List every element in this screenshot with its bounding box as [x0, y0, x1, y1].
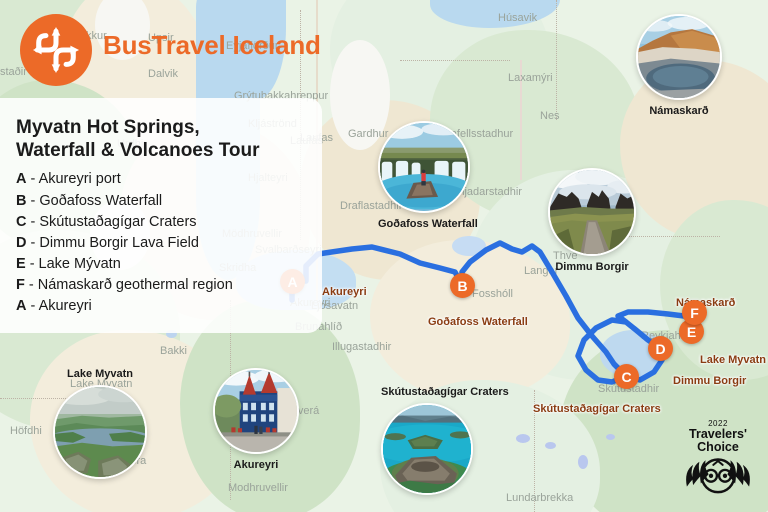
- photo-lakemyvatn-image: [53, 385, 147, 479]
- title-line-1: Myvatn Hot Springs,: [16, 117, 200, 138]
- itinerary-list: A - Akureyri portB - Goðafoss WaterfallC…: [16, 169, 308, 317]
- itinerary-item: A - Akureyri port: [16, 169, 308, 190]
- photo-lakemyvatn: Lake Myvatn: [53, 368, 147, 479]
- itinerary-label: - Goðafoss Waterfall: [26, 193, 162, 209]
- itinerary-letter: A: [16, 298, 26, 314]
- map-marker-c[interactable]: C: [614, 364, 639, 389]
- photo-namaskard-image: [636, 14, 722, 100]
- itinerary-letter: B: [16, 193, 26, 209]
- photo-dimmuborgir-image: [548, 168, 636, 256]
- photo-akureyri: Akureyri: [213, 368, 299, 471]
- photo-caption: Dimmu Borgir: [548, 261, 636, 273]
- page-title: Myvatn Hot Springs, Waterfall & Volcanoe…: [16, 116, 308, 162]
- tripadvisor-owl-icon: [679, 454, 757, 496]
- tour-map-poster: staðirkkurUpsirDalvikGrýtubakkahreppurEy…: [0, 0, 768, 512]
- photo-craters-image: [381, 403, 473, 495]
- four-way-arrows-icon: [20, 14, 92, 86]
- itinerary-label: - Akureyri: [26, 298, 91, 314]
- itinerary-letter: C: [16, 214, 26, 230]
- photo-caption: Námaskarð: [636, 105, 722, 117]
- photo-caption: Lake Myvatn: [53, 368, 147, 380]
- map-marker-d[interactable]: D: [648, 336, 673, 361]
- itinerary-label: - Dimmu Borgir Lava Field: [26, 235, 198, 251]
- title-line-2: Waterfall & Volcanoes Tour: [16, 140, 260, 161]
- itinerary-letter: A: [16, 171, 26, 187]
- photo-caption: Akureyri: [213, 459, 299, 471]
- bustravel-logo: [20, 14, 92, 86]
- itinerary-letter: E: [16, 256, 26, 272]
- photo-caption: Skútustaðagígar Craters: [381, 386, 473, 398]
- map-marker-b[interactable]: B: [450, 273, 475, 298]
- brand-name: BusTravel Iceland: [103, 30, 321, 61]
- photo-caption: Goðafoss Waterfall: [378, 218, 470, 230]
- photo-akureyri-image: [213, 368, 299, 454]
- itinerary-letter: D: [16, 235, 26, 251]
- itinerary-letter: F: [16, 277, 25, 293]
- itinerary-label: - Námaskarð geothermal region: [25, 277, 233, 293]
- route-stop-label: Lake Myvatn: [700, 354, 766, 366]
- itinerary-label: - Lake Mývatn: [26, 256, 121, 272]
- route-stop-label: Akureyri: [322, 286, 367, 298]
- route-stop-label: Skútustaðagígar Craters: [533, 403, 661, 415]
- badge-title-line-1: Travelers': [689, 428, 747, 441]
- photo-dimmuborgir: Dimmu Borgir: [548, 168, 636, 273]
- route-stop-label: Goðafoss Waterfall: [428, 316, 528, 328]
- badge-title-line-2: Choice: [697, 441, 739, 454]
- itinerary-label: - Akureyri port: [26, 171, 120, 187]
- itinerary-item: D - Dimmu Borgir Lava Field: [16, 233, 308, 254]
- itinerary-item: F - Námaskarð geothermal region: [16, 275, 308, 296]
- map-marker-f[interactable]: F: [682, 300, 707, 325]
- photo-namaskard: Námaskarð: [636, 14, 722, 117]
- photo-godafoss-image: [378, 121, 470, 213]
- tour-info-panel: Myvatn Hot Springs, Waterfall & Volcanoe…: [0, 98, 322, 333]
- itinerary-item: E - Lake Mývatn: [16, 254, 308, 275]
- itinerary-item: A - Akureyri: [16, 296, 308, 317]
- itinerary-item: B - Goðafoss Waterfall: [16, 191, 308, 212]
- photo-craters: Skútustaðagígar Craters: [381, 386, 473, 495]
- itinerary-label: - Skútustaðagígar Craters: [26, 214, 196, 230]
- tripadvisor-travelers-choice-badge: 2022 Travelers' Choice: [676, 420, 760, 504]
- photo-godafoss: Goðafoss Waterfall: [378, 121, 470, 230]
- route-stop-label: Dimmu Borgir: [673, 375, 746, 387]
- itinerary-item: C - Skútustaðagígar Craters: [16, 212, 308, 233]
